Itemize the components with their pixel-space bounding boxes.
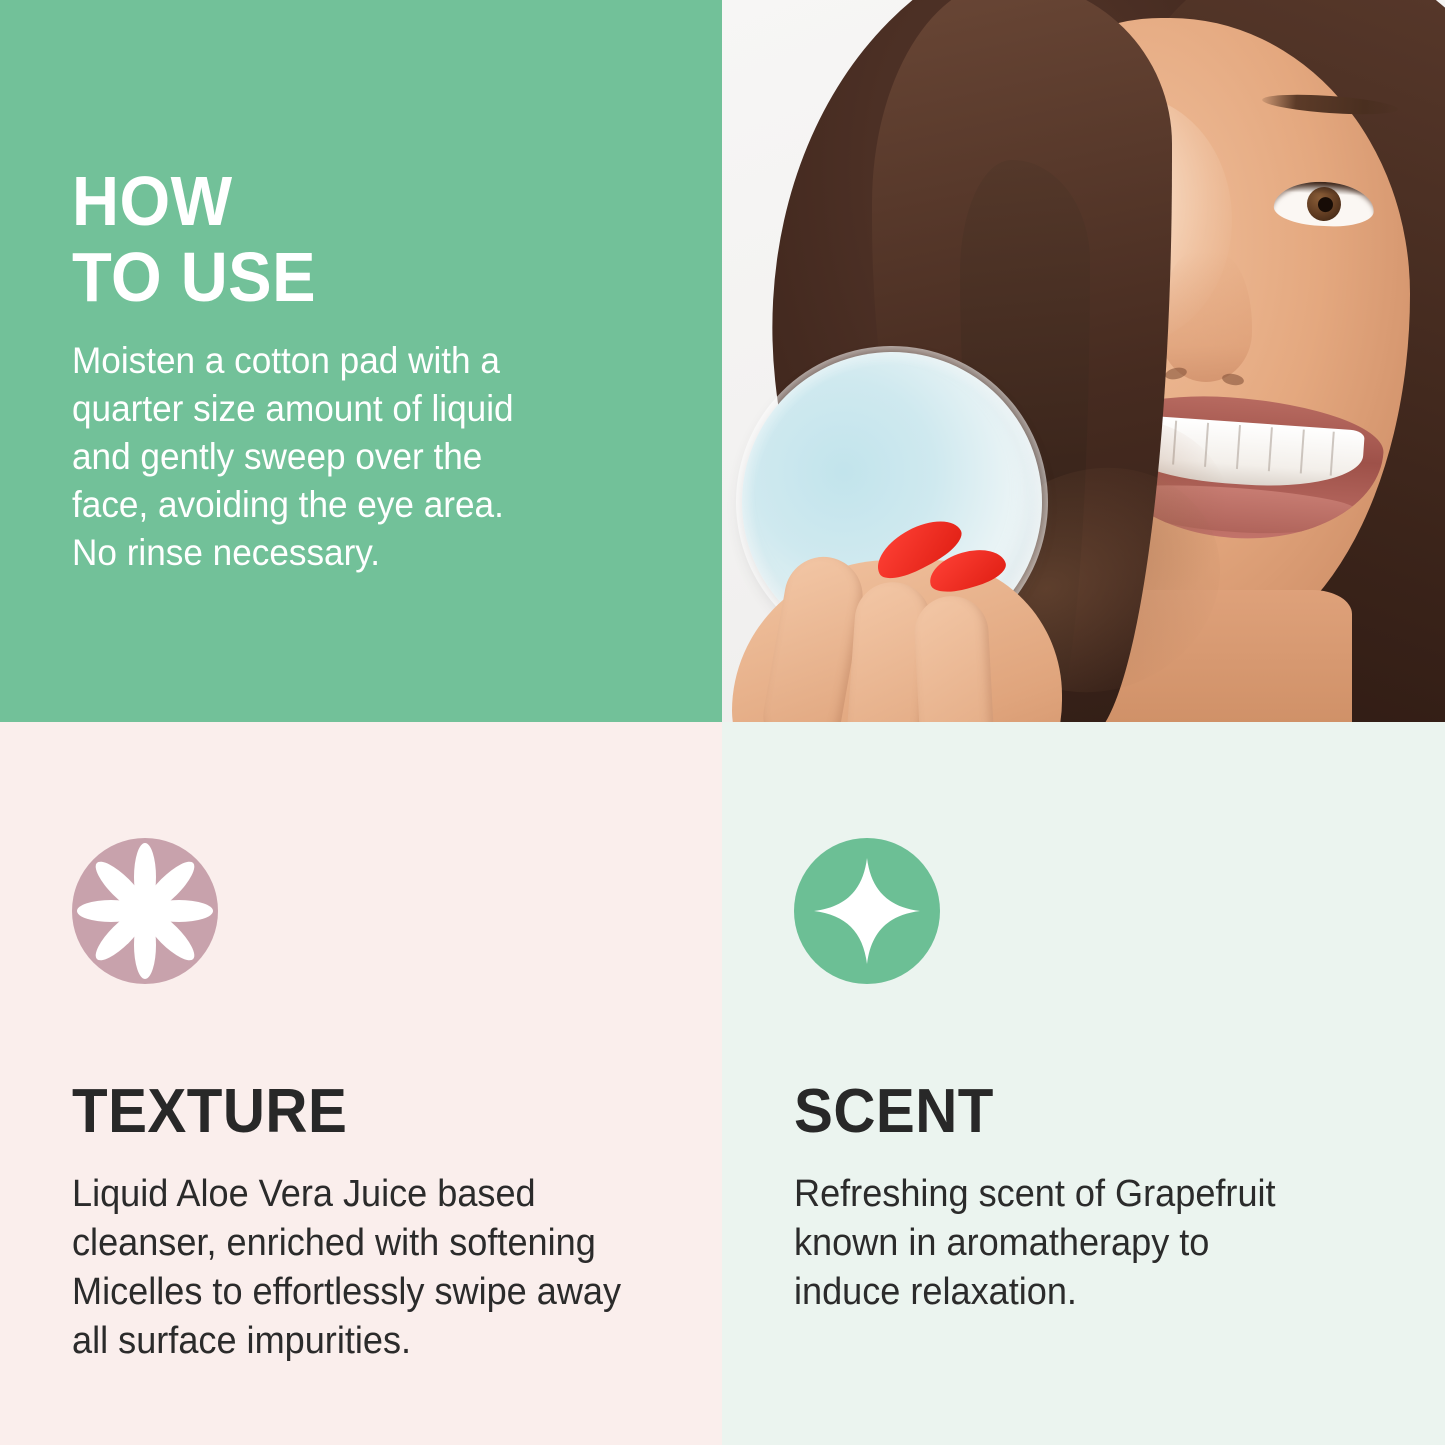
- scent-content: SCENT Refreshing scent of Grapefruit kno…: [794, 838, 1374, 1317]
- sparkle-icon: [794, 838, 940, 984]
- scent-body: Refreshing scent of Grapefruit known in …: [794, 1170, 1345, 1317]
- texture-title: TEXTURE: [72, 1080, 645, 1144]
- flower-icon: [72, 838, 218, 984]
- panel-scent: SCENT Refreshing scent of Grapefruit kno…: [722, 722, 1445, 1445]
- panel-how-to-use: HOW TO USE Moisten a cotton pad with a q…: [0, 0, 722, 722]
- model-photo-image: [722, 0, 1445, 722]
- nose: [1160, 252, 1252, 382]
- panel-texture: TEXTURE Liquid Aloe Vera Juice based cle…: [0, 722, 722, 1445]
- scent-title: SCENT: [794, 1080, 1339, 1144]
- how-to-use-content: HOW TO USE Moisten a cotton pad with a q…: [72, 163, 632, 577]
- texture-content: TEXTURE Liquid Aloe Vera Juice based cle…: [72, 838, 682, 1366]
- how-to-use-body: Moisten a cotton pad with a quarter size…: [72, 337, 604, 577]
- product-infographic: HOW TO USE Moisten a cotton pad with a q…: [0, 0, 1445, 1445]
- texture-body: Liquid Aloe Vera Juice based cleanser, e…: [72, 1170, 652, 1366]
- panel-model-photo: [722, 0, 1445, 722]
- how-to-use-title: HOW TO USE: [72, 163, 593, 315]
